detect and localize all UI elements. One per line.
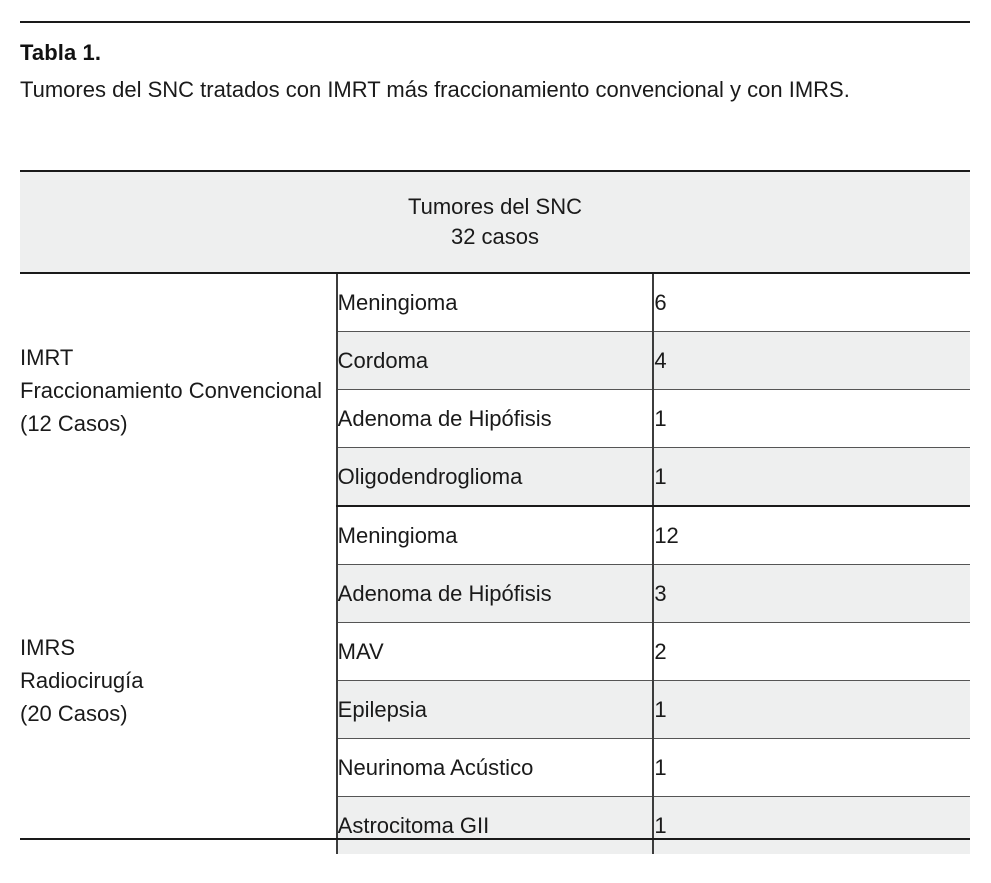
tumor-name-cell: Adenoma de Hipófisis (337, 390, 654, 448)
tumor-name-cell: Neurinoma Acústico (337, 739, 654, 797)
group-label-line: (12 Casos) (20, 407, 336, 440)
tumor-count-cell: 4 (653, 332, 970, 390)
table-caption-text: Tumores del SNC tratados con IMRT más fr… (20, 74, 975, 106)
table-caption-label: Tabla 1. (20, 38, 975, 68)
tumor-name-cell: Oligodendroglioma (337, 448, 654, 507)
tumor-count-cell: 1 (653, 739, 970, 797)
group-label-line: (20 Casos) (20, 697, 336, 730)
group-label-line: Fraccionamiento Convencional (20, 374, 336, 407)
tumor-count-cell: 12 (653, 506, 970, 565)
table-header-title: Tumores del SNC (20, 192, 970, 222)
cns-tumors-table: Tumores del SNC 32 casos IMRT Fraccionam… (20, 170, 970, 854)
table-caption: Tabla 1. Tumores del SNC tratados con IM… (20, 38, 975, 106)
table-row: IMRT Fraccionamiento Convencional (12 Ca… (20, 273, 970, 332)
tumor-count-cell: 1 (653, 797, 970, 855)
tumor-name-cell: MAV (337, 623, 654, 681)
table-figure-page: Tabla 1. Tumores del SNC tratados con IM… (0, 0, 991, 883)
table-container: Tumores del SNC 32 casos IMRT Fraccionam… (20, 170, 970, 854)
group-label-imrt: IMRT Fraccionamiento Convencional (12 Ca… (20, 273, 337, 506)
tumor-name-cell: Epilepsia (337, 681, 654, 739)
tumor-count-cell: 1 (653, 390, 970, 448)
tumor-count-cell: 3 (653, 565, 970, 623)
tumor-name-cell: Astrocitoma GII (337, 797, 654, 855)
tumor-name-cell: Meningioma (337, 506, 654, 565)
tumor-name-cell: Meningioma (337, 273, 654, 332)
group-label-line: IMRS (20, 631, 336, 664)
table-header-subtitle: 32 casos (20, 222, 970, 252)
group-label-line: IMRT (20, 341, 336, 374)
top-divider-rule (20, 21, 970, 23)
tumor-name-cell: Cordoma (337, 332, 654, 390)
table-body: Tumores del SNC 32 casos IMRT Fraccionam… (20, 171, 970, 854)
group-label-imrs: IMRS Radiocirugía (20 Casos) (20, 506, 337, 854)
group-label-line: Radiocirugía (20, 664, 336, 697)
table-row: IMRS Radiocirugía (20 Casos) Meningioma … (20, 506, 970, 565)
tumor-count-cell: 6 (653, 273, 970, 332)
tumor-count-cell: 1 (653, 681, 970, 739)
bottom-divider-rule (20, 838, 970, 840)
table-header-row: Tumores del SNC 32 casos (20, 171, 970, 273)
tumor-count-cell: 1 (653, 448, 970, 507)
table-header-cell: Tumores del SNC 32 casos (20, 171, 970, 273)
tumor-count-cell: 2 (653, 623, 970, 681)
tumor-name-cell: Adenoma de Hipófisis (337, 565, 654, 623)
